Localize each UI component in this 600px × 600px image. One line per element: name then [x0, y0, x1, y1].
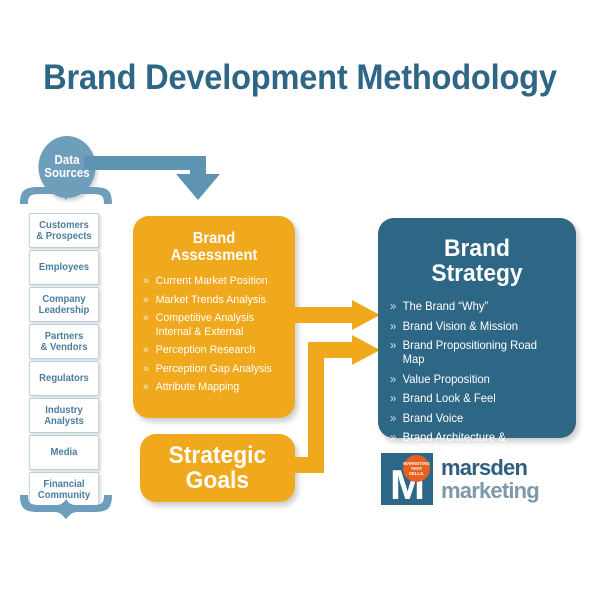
- source-box[interactable]: Regulators: [29, 361, 99, 396]
- brand-assessment-item-label: Attribute Mapping: [156, 381, 240, 393]
- diagram-canvas: Brand Development Methodology Data Sourc…: [0, 0, 600, 600]
- strategic-goals-heading: Strategic Goals: [169, 443, 267, 493]
- chevron-bullet-icon: »: [390, 392, 396, 406]
- chevron-bullet-icon: »: [390, 300, 396, 314]
- source-box[interactable]: Industry Analysts: [29, 398, 99, 433]
- brand-strategy-heading: Brand Strategy: [394, 236, 559, 286]
- arrow-strategic-goals-to-brand-strategy: [288, 335, 382, 475]
- chevron-bullet-icon: »: [143, 275, 149, 289]
- source-box[interactable]: Employees: [29, 250, 99, 285]
- brand-strategy-item: »Brand Voice: [390, 412, 559, 426]
- logo-word-marketing: marketing: [441, 480, 539, 503]
- chevron-bullet-icon: »: [143, 294, 149, 308]
- brand-strategy-item: »Brand Propositioning Road Map: [390, 339, 559, 367]
- brand-assessment-heading: Brand Assessment: [147, 230, 282, 264]
- chevron-bullet-icon: »: [143, 381, 149, 395]
- brand-assessment-list: »Current Market Position »Market Trends …: [143, 275, 285, 395]
- chevron-bullet-icon: »: [143, 344, 149, 358]
- brand-assessment-item: »Attribute Mapping: [143, 381, 281, 395]
- brand-assessment-item-label: Perception Research: [156, 344, 256, 356]
- source-box[interactable]: Media: [29, 435, 99, 470]
- data-sources-label-line2: Sources: [44, 167, 89, 180]
- brand-strategy-panel: Brand Strategy »The Brand “Why” »Brand V…: [378, 218, 576, 438]
- logo-wordmark: marsden marketing: [441, 457, 539, 502]
- brand-strategy-item: »Value Proposition: [390, 373, 559, 387]
- brace-bottom-decoration: [18, 495, 114, 519]
- brand-assessment-item: »Market Trends Analysis: [143, 294, 281, 308]
- arrow-data-sources-to-brand-assessment: [84, 152, 244, 204]
- chevron-bullet-icon: »: [143, 312, 149, 326]
- brand-assessment-item-label: Market Trends Analysis: [156, 294, 266, 306]
- chevron-bullet-icon: »: [390, 431, 396, 445]
- brand-assessment-item: »Current Market Position: [143, 275, 281, 289]
- brand-strategy-item-label: Brand Vision & Mission: [403, 320, 518, 333]
- brand-strategy-item: »Brand Look & Feel: [390, 392, 559, 406]
- page-title: Brand Development Methodology: [21, 58, 579, 98]
- source-box[interactable]: Customers & Prospects: [29, 213, 99, 248]
- brand-strategy-item-label: Value Proposition: [403, 373, 490, 386]
- logo-word-marsden: marsden: [441, 457, 539, 480]
- source-box[interactable]: Partners & Vendors: [29, 324, 99, 359]
- brand-strategy-list: »The Brand “Why” »Brand Vision & Mission…: [390, 300, 564, 459]
- data-source-list: Customers & Prospects Employees Company …: [27, 213, 101, 509]
- brand-strategy-item: »The Brand “Why”: [390, 300, 559, 314]
- brand-strategy-item-label: Brand Look & Feel: [403, 392, 496, 405]
- brand-assessment-item: »Perception Research: [143, 344, 281, 358]
- brand-assessment-item-label: Perception Gap Analysis: [156, 363, 272, 375]
- arrow-brand-assessment-to-brand-strategy: [288, 300, 382, 334]
- brand-assessment-item: »Perception Gap Analysis: [143, 363, 281, 377]
- brand-assessment-item-label: Competitive Analysis Internal & External: [156, 312, 254, 338]
- chevron-bullet-icon: »: [390, 412, 396, 426]
- logo-badge-line2: THAT SELLS.: [403, 466, 430, 476]
- chevron-bullet-icon: »: [390, 320, 396, 334]
- chevron-bullet-icon: »: [390, 373, 396, 387]
- chevron-bullet-icon: »: [390, 339, 396, 353]
- source-box[interactable]: Company Leadership: [29, 287, 99, 322]
- brand-strategy-item-label: Brand Propositioning Road Map: [403, 339, 537, 366]
- strategic-goals-panel: Strategic Goals: [140, 434, 295, 502]
- logo-mark-square: M MARKETING THAT SELLS.: [381, 453, 433, 505]
- brand-assessment-item-label: Current Market Position: [156, 275, 268, 287]
- marsden-marketing-logo: M MARKETING THAT SELLS. marsden marketin…: [381, 453, 577, 505]
- logo-badge-circle-icon: MARKETING THAT SELLS.: [403, 455, 430, 482]
- brand-strategy-item: »Brand Vision & Mission: [390, 320, 559, 334]
- brand-strategy-item-label: The Brand “Why”: [403, 300, 489, 313]
- chevron-bullet-icon: »: [143, 363, 149, 377]
- brand-assessment-panel: Brand Assessment »Current Market Positio…: [133, 216, 295, 418]
- brand-assessment-item: »Competitive Analysis Internal & Externa…: [143, 312, 281, 339]
- brand-strategy-item-label: Brand Voice: [403, 412, 464, 425]
